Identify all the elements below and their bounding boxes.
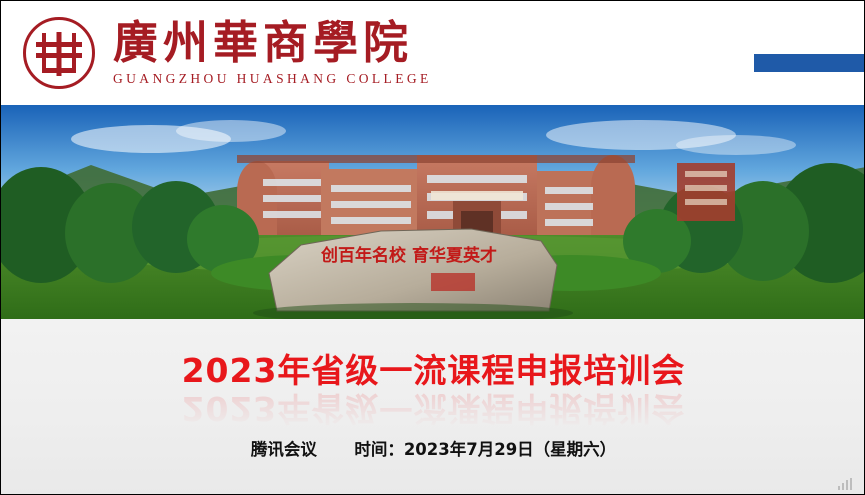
slide-subtitle: 腾讯会议 时间：2023年7月29日（星期六） (1, 436, 865, 460)
campus-photo-illustration: 创百年名校 育华夏英才 (1, 105, 865, 319)
slide-title-reflection: 2023年省级一流课程申报培训会 (1, 387, 865, 435)
header-accent-bar (754, 54, 865, 72)
slide-header: 廣州華商學院 GUANGZHOU HUASHANG COLLEGE (1, 1, 865, 105)
campus-photo: 创百年名校 育华夏英才 (1, 105, 865, 319)
seal-stroke (57, 32, 62, 76)
subtitle-time: 时间：2023年7月29日（星期六） (354, 440, 616, 459)
slide-body: 2023年省级一流课程申报培训会 2023年省级一流课程申报培训会 腾讯会议 时… (1, 319, 865, 495)
slide-title: 2023年省级一流课程申报培训会 (1, 344, 865, 392)
stone-inscription: 创百年名校 育华夏英才 (320, 245, 497, 266)
presentation-slide: 廣州華商學院 GUANGZHOU HUASHANG COLLEGE (0, 0, 865, 495)
university-seal-icon (23, 17, 95, 89)
subtitle-platform: 腾讯会议 (251, 440, 317, 459)
university-name-en: GUANGZHOU HUASHANG COLLEGE (113, 72, 432, 86)
university-logo: 廣州華商學院 GUANGZHOU HUASHANG COLLEGE (23, 17, 432, 89)
university-name-block: 廣州華商學院 GUANGZHOU HUASHANG COLLEGE (113, 20, 432, 86)
resize-grip-icon[interactable] (838, 478, 860, 490)
university-name-cn: 廣州華商學院 (113, 20, 432, 65)
